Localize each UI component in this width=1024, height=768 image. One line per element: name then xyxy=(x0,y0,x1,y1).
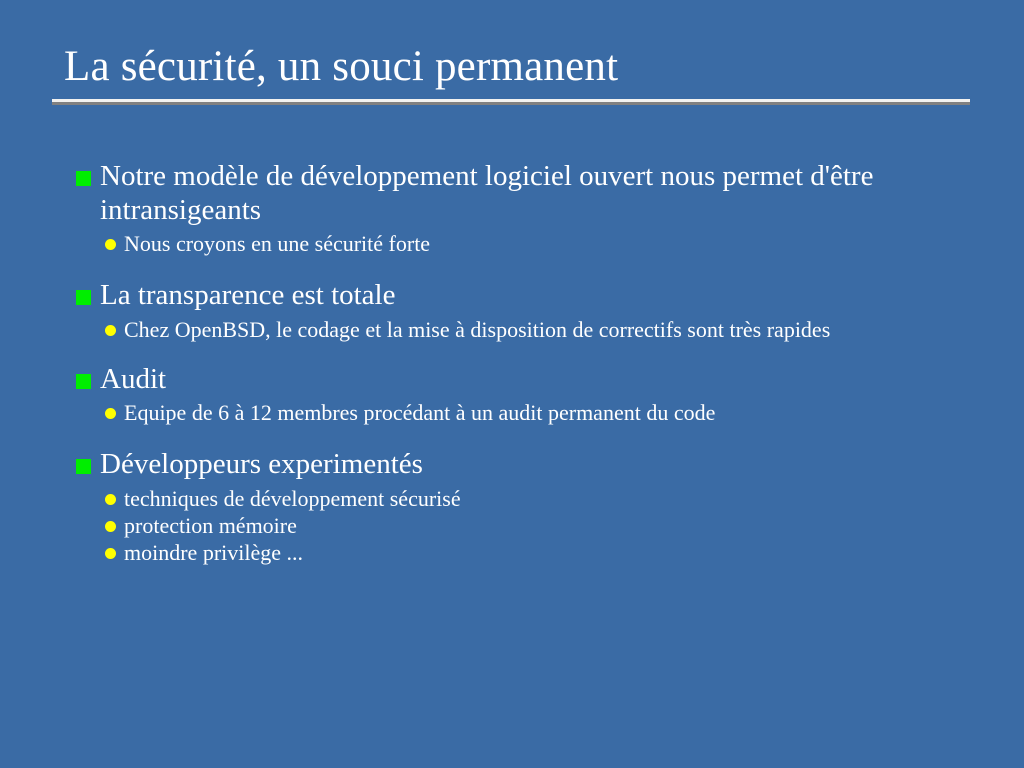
yellow-dot-bullet-icon xyxy=(105,521,116,532)
bullet-level2-label: Equipe de 6 à 12 membres procédant à un … xyxy=(124,400,934,426)
green-square-bullet-icon xyxy=(76,171,91,186)
bullet-level2: moindre privilège ... xyxy=(105,540,986,566)
sublist: Nous croyons en une sécurité forte xyxy=(76,231,986,257)
bullet-level2: Nous croyons en une sécurité forte xyxy=(105,231,986,257)
bullet-level1: La transparence est totale xyxy=(76,279,986,313)
title-underline-rule xyxy=(52,99,970,105)
yellow-dot-bullet-icon xyxy=(105,494,116,505)
yellow-dot-bullet-icon xyxy=(105,408,116,419)
bullet-level2-label: protection mémoire xyxy=(124,513,934,539)
bullet-level2-label: Nous croyons en une sécurité forte xyxy=(124,231,934,257)
bullet-level1-label: Audit xyxy=(100,363,890,397)
sublist: techniques de développement sécurisé pro… xyxy=(76,486,986,566)
presentation-slide: La sécurité, un souci permanent Notre mo… xyxy=(0,0,1024,768)
bullet-level1: Notre modèle de développement logiciel o… xyxy=(76,160,986,227)
bullet-level2: Chez OpenBSD, le codage et la mise à dis… xyxy=(105,317,986,343)
bullet-level1: Audit xyxy=(76,363,986,397)
bullet-level2: Equipe de 6 à 12 membres procédant à un … xyxy=(105,400,986,426)
bullet-section: Audit Equipe de 6 à 12 membres procédant… xyxy=(76,363,986,427)
bullet-level1-label: Développeurs experimentés xyxy=(100,448,890,482)
yellow-dot-bullet-icon xyxy=(105,548,116,559)
sublist: Chez OpenBSD, le codage et la mise à dis… xyxy=(76,317,986,343)
page-title: La sécurité, un souci permanent xyxy=(52,44,972,90)
green-square-bullet-icon xyxy=(76,290,91,305)
bullet-level1-label: Notre modèle de développement logiciel o… xyxy=(100,160,890,227)
bullet-level2-label: moindre privilège ... xyxy=(124,540,934,566)
bullet-level1-label: La transparence est totale xyxy=(100,279,890,313)
bullet-level2-label: Chez OpenBSD, le codage et la mise à dis… xyxy=(124,317,934,343)
bullet-section: Notre modèle de développement logiciel o… xyxy=(76,160,986,257)
yellow-dot-bullet-icon xyxy=(105,325,116,336)
bullet-level2: techniques de développement sécurisé xyxy=(105,486,986,512)
slide-title-block: La sécurité, un souci permanent xyxy=(52,44,972,105)
green-square-bullet-icon xyxy=(76,459,91,474)
slide-body: Notre modèle de développement logiciel o… xyxy=(76,160,986,567)
bullet-section: Développeurs experimentés techniques de … xyxy=(76,448,986,565)
yellow-dot-bullet-icon xyxy=(105,239,116,250)
bullet-level2-label: techniques de développement sécurisé xyxy=(124,486,934,512)
sublist: Equipe de 6 à 12 membres procédant à un … xyxy=(76,400,986,426)
green-square-bullet-icon xyxy=(76,374,91,389)
bullet-level1: Développeurs experimentés xyxy=(76,448,986,482)
bullet-section: La transparence est totale Chez OpenBSD,… xyxy=(76,279,986,343)
bullet-level2: protection mémoire xyxy=(105,513,986,539)
